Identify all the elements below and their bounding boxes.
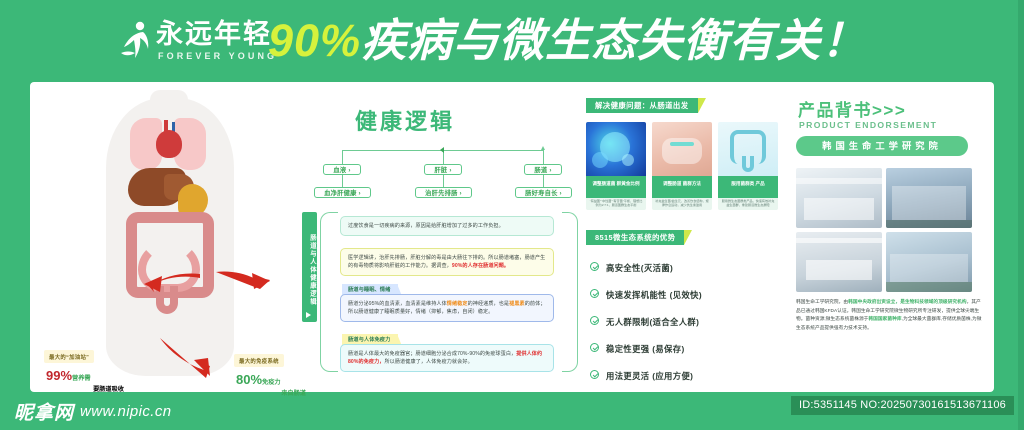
heart-icon bbox=[156, 130, 182, 158]
flow-drop-1 bbox=[342, 175, 343, 187]
flow-arrow-left bbox=[440, 147, 444, 153]
endorsement-title-en: PRODUCT ENDORSEMENT bbox=[799, 120, 937, 130]
flow-drop-3 bbox=[543, 175, 544, 187]
callout-tag-fuel-station: 最大的“加油站” bbox=[44, 350, 94, 363]
flow-leaf-liver[interactable]: 治肝先排肠 › bbox=[415, 187, 472, 198]
flow-leaf-blood[interactable]: 血净肝健康 › bbox=[314, 187, 371, 198]
note-medical-text-a: 医学逻辑讲，治肝先排肠，肝脏分解的毒是由大肠往下排的。所以肠道堵塞，肠道产生的有… bbox=[348, 255, 545, 269]
callout-percent-99: 99% bbox=[46, 368, 72, 383]
lab-interior-photo bbox=[796, 168, 882, 228]
research-building-photo bbox=[886, 168, 972, 228]
advantage-item-3: 无人群限制(适合全人群) bbox=[606, 316, 699, 328]
endorsement-body-text: 韩国生命工学研究院，由韩国中央政府出资设立，是生物科技领域的顶级研究机构，其产品… bbox=[796, 298, 982, 332]
page-header: 永远年轻 FOREVER YOUNG 90%疾病与微生态失衡有关！ bbox=[0, 0, 1024, 80]
watermark-url: www.nipic.cn bbox=[80, 403, 172, 420]
flow-node-blood[interactable]: 血液 › bbox=[323, 164, 361, 175]
gut-card-ratio-caption: 调整肠道菌 群黄金比例 bbox=[586, 176, 646, 198]
side-tab-label: 肠道与人体健康逻辑 bbox=[309, 234, 316, 306]
image-id-badge: ID:5351145 NO:20250730161513671106 bbox=[791, 396, 1014, 415]
flow-line-1 bbox=[342, 150, 343, 164]
note-serotonin-a: 肠道分泌95%的血清素，血清素是维持人体 bbox=[348, 301, 447, 307]
brace-left bbox=[320, 212, 338, 372]
note-overeating-text: 过度饮食是一切疾病的来源，原因是给肝脏增加了过多的工作负担。 bbox=[348, 223, 504, 229]
logo-text-cn: 永远年轻 bbox=[156, 18, 272, 50]
right-edge-rail bbox=[1018, 0, 1024, 430]
gut-card-method[interactable]: 调整肠道 菌群方法 补充益生菌/益生元，改善饮食结构，规律作息运动，减少抗生素滥… bbox=[652, 122, 712, 210]
endorsement-p2-highlight: 韩国国家菌种库 bbox=[868, 316, 901, 321]
callout-stat-99: 99%营养需 要肠道吸收 bbox=[46, 366, 124, 394]
caret-right-icon bbox=[306, 312, 311, 318]
endorsement-p1a: 韩国生命工学研究院，由 bbox=[796, 299, 848, 304]
health-logic-panel: 健康逻辑 血液 › 肝脏 › 肠道 › 血净肝健康 › 治肝先排肠 › 肠好寿自… bbox=[300, 90, 586, 384]
note-serotonin: 肠道分泌95%的血清素，血清素是维持人体情绪稳定的神经递质，也是褪黑素的前体；所… bbox=[340, 294, 554, 322]
gut-card-product-caption: 服用菌群类 产品 bbox=[718, 176, 778, 198]
headline-percent: 90% bbox=[268, 15, 361, 66]
page-headline: 90%疾病与微生态失衡有关！ bbox=[268, 10, 867, 72]
flow-line-3 bbox=[543, 150, 544, 164]
advantage-item-1: 高安全性(灭活菌) bbox=[606, 262, 673, 274]
note-overeating: 过度饮食是一切疾病的来源，原因是给肝脏增加了过多的工作负担。 bbox=[340, 216, 554, 236]
logo-text-en: FOREVER YOUNG bbox=[158, 51, 277, 61]
flow-node-liver[interactable]: 肝脏 › bbox=[424, 164, 462, 175]
product-endorsement-panel: 产品背书>>> PRODUCT ENDORSEMENT 韩国生命工学研究院 韩国… bbox=[786, 90, 986, 384]
gut-card-product-sub: 服用微生态菌群类产品，快速有效补充益生菌群，重建肠道微生态屏障 bbox=[718, 198, 778, 210]
ribbon-solve-health: 解决健康问题：从肠道出发 bbox=[586, 98, 698, 113]
arrow-down-icon bbox=[156, 336, 214, 378]
flow-drop-2 bbox=[443, 175, 444, 187]
body-diagram-panel: 最大的“加油站” 99%营养需 要肠道吸收 最大的免疫系统 80%免疫力 来自肠… bbox=[38, 90, 300, 384]
advantage-item-2: 快速发挥机能性 (见效快) bbox=[606, 289, 702, 301]
callout-tag-immune-system: 最大的免疫系统 bbox=[234, 354, 284, 367]
callout-stat-80: 80%免疫力 来自肠道 bbox=[236, 370, 306, 398]
flow-arrow-up bbox=[541, 146, 545, 150]
arrow-right-icon bbox=[214, 266, 272, 292]
watermark-cn: 昵拿网 bbox=[14, 403, 74, 424]
campus-aerial-photo bbox=[886, 232, 972, 292]
neck-shape bbox=[150, 90, 188, 118]
note-medical-logic: 医学逻辑讲，治肝先排肠，肝脏分解的毒是由大肠往下排的。所以肠道堵塞，肠道产生的有… bbox=[340, 248, 554, 276]
running-person-icon bbox=[118, 20, 152, 60]
health-logic-title: 健康逻辑 bbox=[355, 104, 455, 136]
gut-card-method-sub: 补充益生菌/益生元，改善饮食结构，规律作息运动，减少抗生素滥用 bbox=[652, 198, 712, 210]
gut-solution-panel: 解决健康问题：从肠道出发 调整肠道菌 群黄金比例 “有益菌”“中性菌”“有害菌”… bbox=[586, 90, 786, 384]
endorsement-institute-pill: 韩国生命工学研究院 bbox=[796, 136, 968, 156]
microbiome-photo bbox=[586, 122, 646, 176]
endorsement-title-cn: 产品背书>>> bbox=[798, 96, 906, 121]
gut-card-ratio[interactable]: 调整肠道菌 群黄金比例 “有益菌”“中性菌”“有害菌”平衡，理想比例为2:7:1… bbox=[586, 122, 646, 210]
flow-node-gut[interactable]: 肠道 › bbox=[524, 164, 562, 175]
gut-card-ratio-sub: “有益菌”“中性菌”“有害菌”平衡，理想比例为2:7:1，肠道菌群生态平衡 bbox=[586, 198, 646, 210]
note-serotonin-hl1: 情绪稳定 bbox=[447, 301, 468, 307]
arrow-left-icon bbox=[142, 270, 202, 296]
callout-label-80a: 免疫力 bbox=[262, 379, 281, 386]
check-circle-icon-3 bbox=[590, 316, 599, 325]
flow-leaf-gut[interactable]: 肠好寿自长 › bbox=[515, 187, 572, 198]
main-content-card: 最大的“加油站” 99%营养需 要肠道吸收 最大的免疫系统 80%免疫力 来自肠… bbox=[30, 82, 994, 392]
note-serotonin-hl2: 褪黑素 bbox=[509, 301, 525, 307]
ribbon-8515-advantages: 8515微生态系统的优势 bbox=[586, 230, 684, 245]
watermark: 昵拿网www.nipic.cn bbox=[14, 398, 172, 424]
gut-card-method-caption: 调整肠道 菌群方法 bbox=[652, 176, 712, 198]
note-immunity-a: 肠道是人体最大的免疫器官；肠道细胞分泌合成70%-90%的免疫球蛋白， bbox=[348, 351, 516, 357]
check-circle-icon-2 bbox=[590, 289, 599, 298]
note-immunity-b: 所以肠道健康了，人体免疫力就会好。 bbox=[384, 359, 472, 365]
callout-percent-80: 80% bbox=[236, 372, 262, 387]
note-serotonin-b: 的神经递质，也是 bbox=[468, 301, 510, 307]
gut-card-product[interactable]: 服用菌群类 产品 服用微生态菌群类产品，快速有效补充益生菌群，重建肠道微生态屏障 bbox=[718, 122, 778, 210]
brace-right bbox=[562, 212, 578, 372]
check-circle-icon-4 bbox=[590, 343, 599, 352]
note-medical-highlight: 90%的人存在肠道问题。 bbox=[452, 263, 509, 269]
abdomen-photo bbox=[652, 122, 712, 176]
callout-label-99a: 营养需 bbox=[72, 375, 91, 382]
colon-xray-photo bbox=[718, 122, 778, 176]
advantage-item-4: 稳定性更强 (易保存) bbox=[606, 343, 685, 355]
headline-rest: 疾病与微生态失衡有关！ bbox=[361, 15, 867, 66]
callout-label-99b: 要肠道吸收 bbox=[46, 386, 124, 394]
check-circle-icon-1 bbox=[590, 262, 599, 271]
endorsement-p2a: 菌种资源;微生态系统菌株源于 bbox=[805, 316, 868, 321]
endorsement-p1-highlight: 韩国中央政府出资设立，是生物科技领域的顶级研究机构 bbox=[848, 299, 966, 304]
brand-logo: 永远年轻 FOREVER YOUNG bbox=[118, 18, 283, 66]
clean-room-photo bbox=[796, 232, 882, 292]
side-tab-gut-health: 肠道与人体健康逻辑 bbox=[302, 212, 317, 322]
check-circle-icon-5 bbox=[590, 370, 599, 379]
note-immunity: 肠道是人体最大的免疫器官；肠道细胞分泌合成70%-90%的免疫球蛋白，提供人体约… bbox=[340, 344, 554, 372]
callout-label-80b: 来自肠道 bbox=[236, 390, 306, 398]
advantage-item-5: 用法更灵活 (应用方便) bbox=[606, 370, 693, 382]
